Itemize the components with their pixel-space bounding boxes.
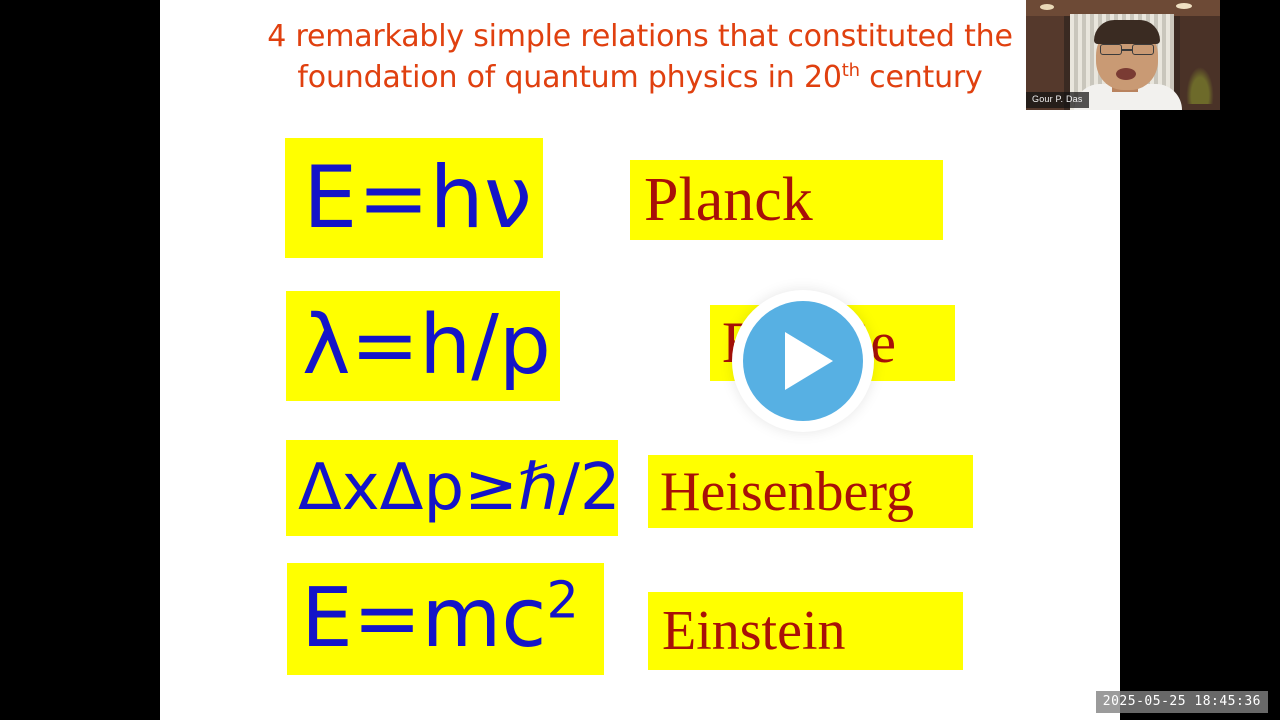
ceiling-light-right-icon [1176,3,1192,9]
scientist-name-heisenberg: Heisenberg [660,464,914,520]
slide-title-line-2-suffix: century [860,60,983,95]
slide-title-line-2-text: foundation of quantum physics in 20 [297,60,841,95]
ceiling-light-left-icon [1040,4,1054,10]
eyeglasses-icon [1100,44,1154,55]
eyeglass-lens-left [1100,44,1122,55]
eyeglass-bridge [1122,49,1132,51]
formula-broglie: λ=h/p [302,305,551,387]
speaker-mouth [1116,68,1136,80]
formula-heisenberg: ΔxΔp≥ℏ/2 [298,456,621,520]
formula-einstein: E=mc2 [301,578,579,660]
formula-box-broglie: λ=h/p [286,291,560,401]
formula-box-heisenberg: ΔxΔp≥ℏ/2 [286,440,618,536]
name-box-planck: Planck [630,160,943,240]
slide-title: 4 remarkably simple relations that const… [160,16,1120,98]
speaker-hair [1094,20,1160,44]
recording-timestamp: 2025-05-25 18:45:36 [1096,691,1268,713]
slide-title-line-1: 4 remarkably simple relations that const… [160,16,1120,57]
webcam-thumbnail[interactable]: Gour P. Das [1026,0,1220,110]
play-button-disc [743,301,863,421]
play-triangle-icon [785,332,833,390]
scientist-name-einstein: Einstein [662,603,846,659]
name-box-heisenberg: Heisenberg [648,455,973,528]
ordinal-superscript: th [842,60,860,81]
formula-einstein-base: E=mc [301,571,546,666]
eyeglass-lens-right [1132,44,1154,55]
play-button[interactable] [732,290,874,432]
name-box-einstein: Einstein [648,592,963,670]
slide-title-line-2: foundation of quantum physics in 20th ce… [160,57,1120,98]
presentation-slide: 4 remarkably simple relations that const… [160,0,1120,720]
formula-box-einstein: E=mc2 [287,563,604,675]
participant-name-label: Gour P. Das [1026,92,1089,108]
scientist-name-planck: Planck [644,169,813,231]
formula-box-planck: E=hν [285,138,543,258]
formula-planck: E=hν [303,155,532,241]
potted-plant [1184,62,1216,104]
video-player-stage: 4 remarkably simple relations that const… [0,0,1280,720]
formula-einstein-exponent: 2 [546,571,578,630]
